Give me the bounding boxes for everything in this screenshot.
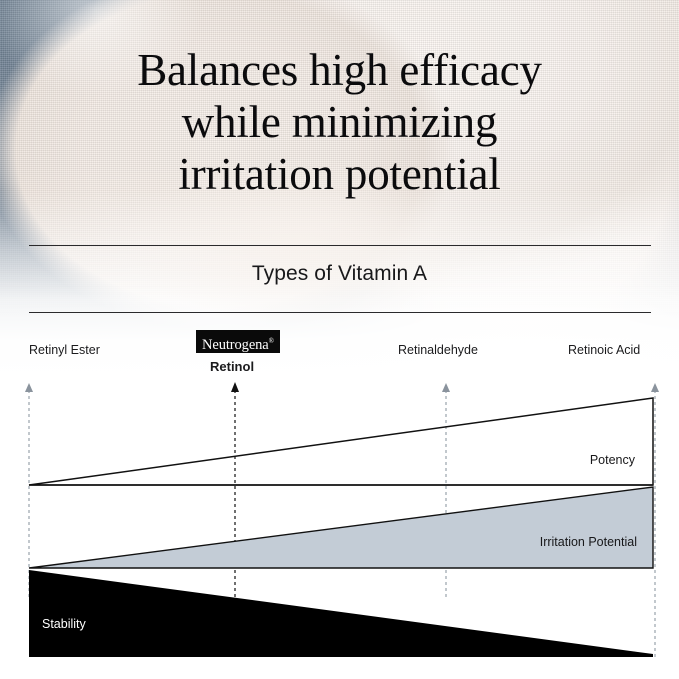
series-label-irritation-potential: Irritation Potential bbox=[390, 535, 637, 549]
headline: Balances high efficacy while minimizing … bbox=[0, 44, 679, 200]
headline-line-3: irritation potential bbox=[0, 148, 679, 200]
guide-arrow-retinoic-acid bbox=[651, 383, 659, 392]
category-label-retinyl-ester: Retinyl Ester bbox=[29, 343, 100, 357]
category-label-retinaldehyde: Retinaldehyde bbox=[398, 343, 478, 357]
guide-arrow-retinaldehyde bbox=[442, 383, 450, 392]
series-irritation-potential-wedge bbox=[29, 487, 653, 568]
headline-line-1: Balances high efficacy bbox=[0, 44, 679, 96]
infographic-canvas: Balances high efficacy while minimizing … bbox=[0, 0, 679, 679]
section-title: Types of Vitamin A bbox=[0, 262, 679, 286]
series-potency-wedge bbox=[29, 398, 653, 485]
series-label-stability: Stability bbox=[42, 617, 242, 631]
headline-line-2: while minimizing bbox=[0, 96, 679, 148]
category-label-retinoic-acid: Retinoic Acid bbox=[568, 343, 640, 357]
brand-logo-text: Neutrogena bbox=[202, 337, 269, 353]
guide-arrow-retinyl-ester bbox=[25, 383, 33, 392]
section-rule-top bbox=[29, 245, 651, 246]
series-label-potency: Potency bbox=[430, 453, 635, 467]
category-label-retinol: Retinol bbox=[210, 359, 254, 374]
guide-arrow-retinol bbox=[231, 382, 239, 392]
series-stability-wedge bbox=[29, 570, 653, 657]
section-rule-bottom bbox=[29, 312, 651, 313]
brand-logo-neutrogena: Neutrogena® bbox=[196, 330, 280, 353]
brand-trademark-icon: ® bbox=[269, 337, 274, 345]
